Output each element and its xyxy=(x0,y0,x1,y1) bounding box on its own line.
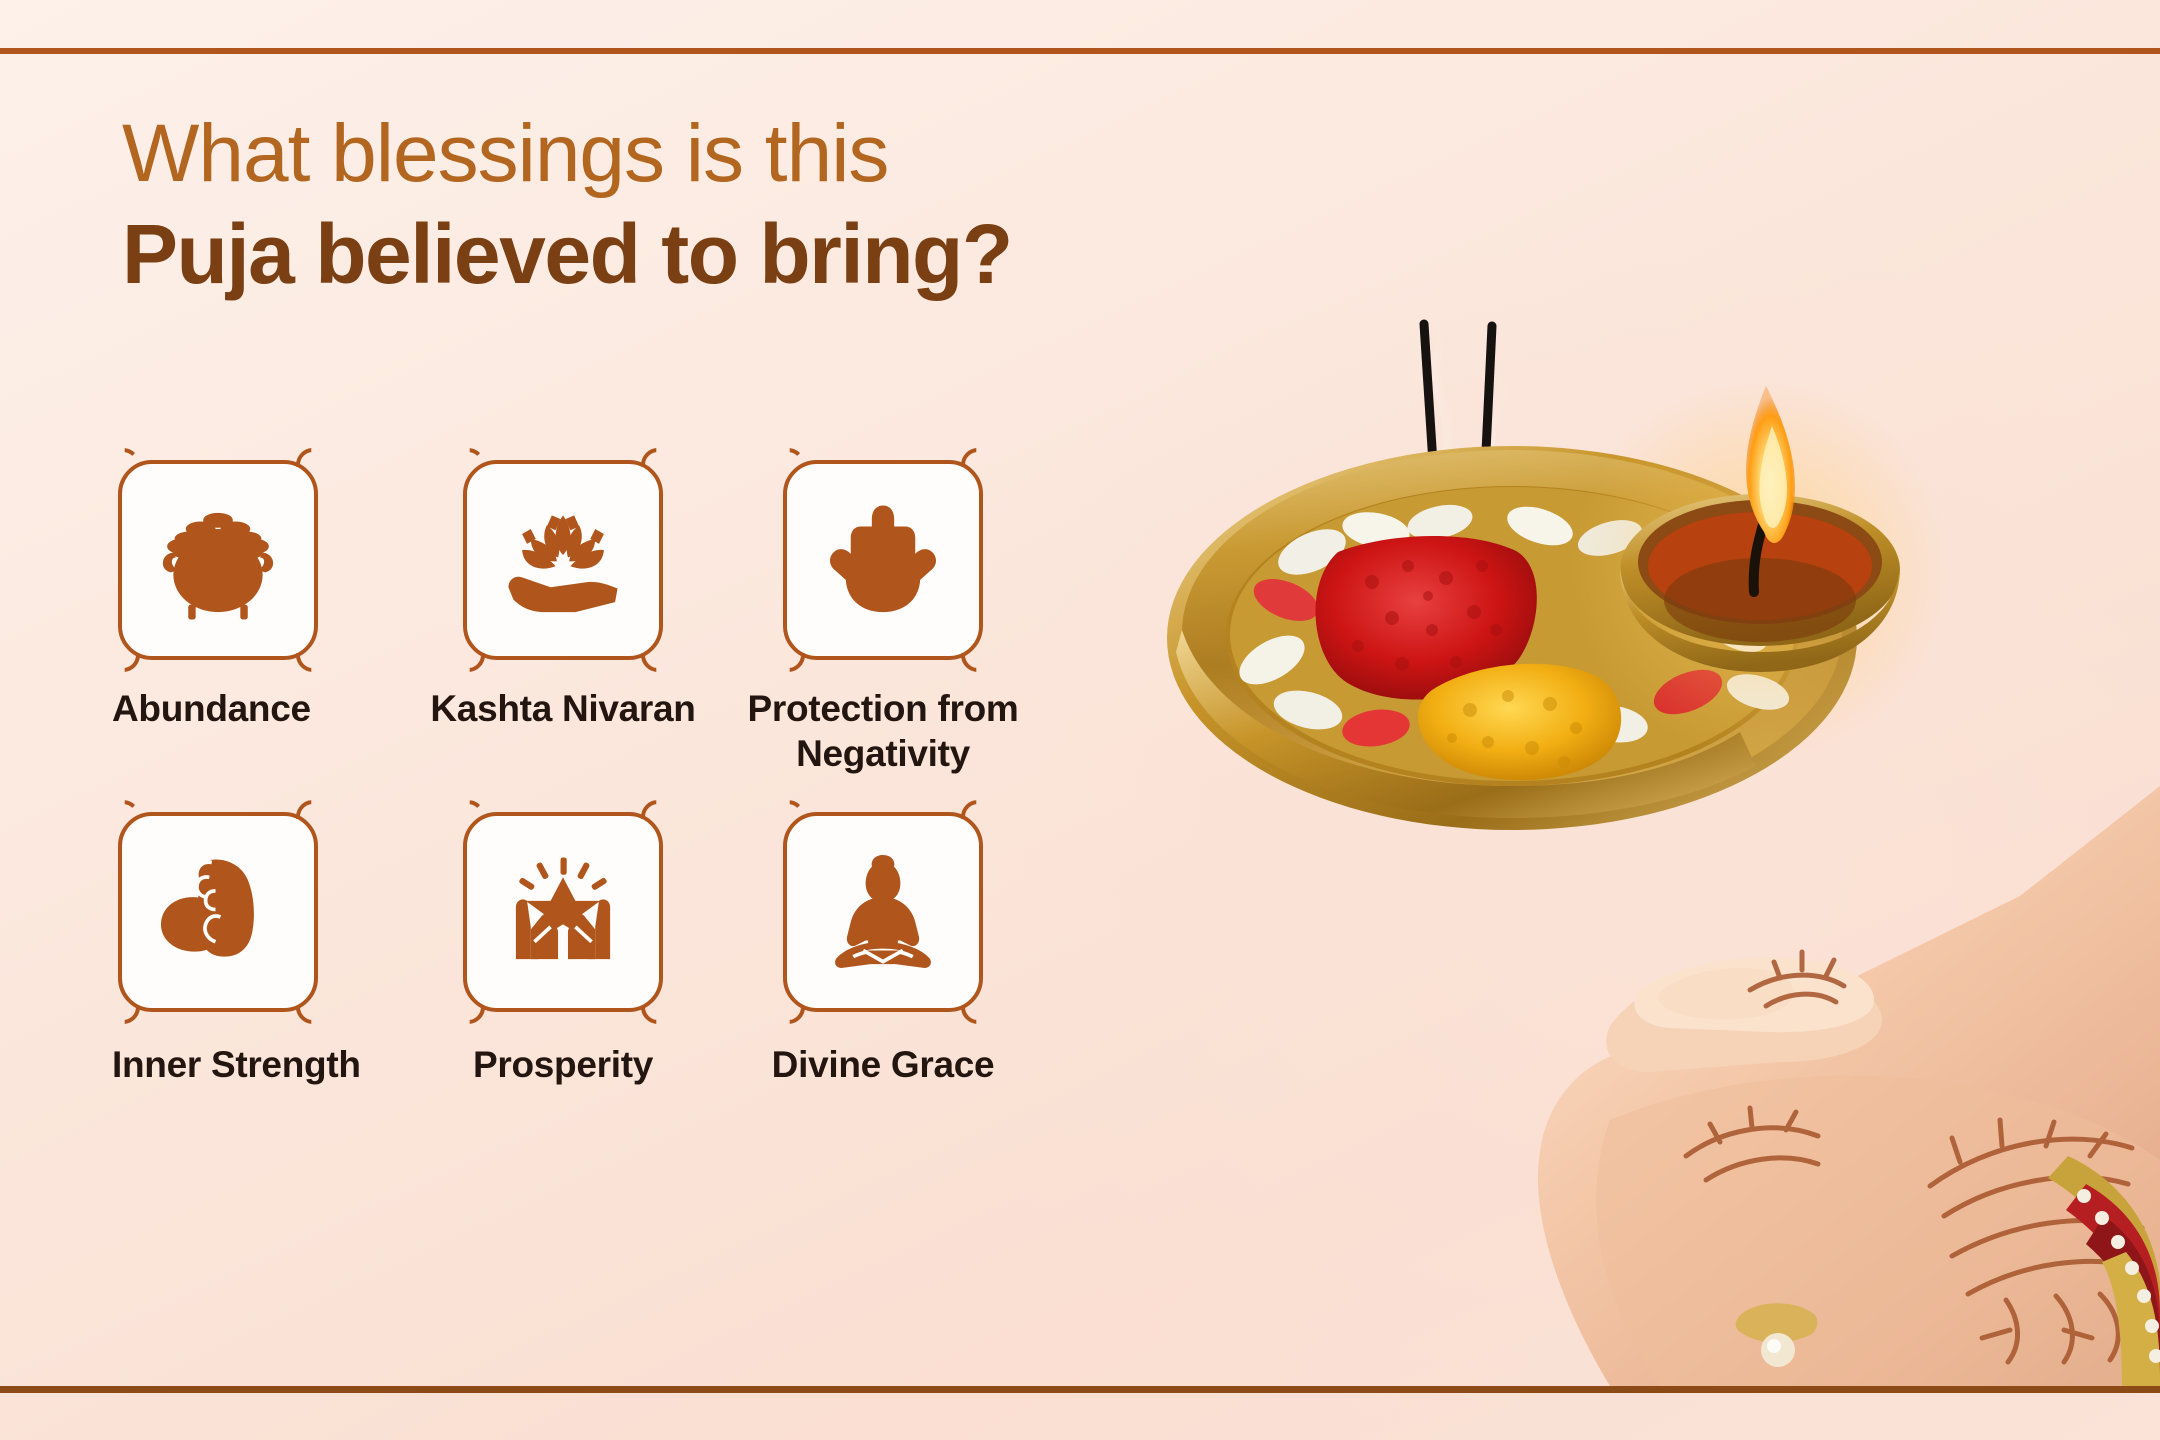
corner-cusp-icon xyxy=(641,638,675,672)
blessing-item-prosperity[interactable]: Prosperity xyxy=(428,812,698,1087)
corner-cusp-icon xyxy=(106,448,140,482)
hand-holding-puja-thali-photo xyxy=(1140,300,2160,1386)
icon-frame xyxy=(783,460,983,660)
corner-cusp-icon xyxy=(961,800,995,834)
corner-cusp-icon xyxy=(106,800,140,834)
flexed-bicep-icon xyxy=(156,850,280,974)
corner-cusp-icon xyxy=(771,990,805,1024)
icon-frame xyxy=(463,812,663,1012)
corner-cusp-icon xyxy=(106,990,140,1024)
hands-with-star-icon xyxy=(501,850,625,974)
corner-cusp-icon xyxy=(451,990,485,1024)
corner-cusp-icon xyxy=(641,990,675,1024)
corner-cusp-icon xyxy=(451,800,485,834)
corner-cusp-icon xyxy=(641,448,675,482)
title-line-2: Puja believed to bring? xyxy=(122,210,1012,298)
top-divider-rule xyxy=(0,48,2160,54)
blessing-label: Prosperity xyxy=(473,1042,653,1087)
icon-frame xyxy=(463,460,663,660)
corner-cusp-icon xyxy=(296,448,330,482)
page-title: What blessings is this Puja believed to … xyxy=(122,112,1012,298)
corner-cusp-icon xyxy=(451,448,485,482)
corner-cusp-icon xyxy=(451,638,485,672)
corner-cusp-icon xyxy=(771,448,805,482)
corner-cusp-icon xyxy=(641,800,675,834)
blessing-item-protection[interactable]: Protection from Negativity xyxy=(738,460,1028,776)
corner-cusp-icon xyxy=(771,800,805,834)
corner-cusp-icon xyxy=(961,638,995,672)
blessing-item-inner-strength[interactable]: Inner Strength xyxy=(118,812,388,1087)
blessing-label: Protection from Negativity xyxy=(738,686,1028,776)
corner-cusp-icon xyxy=(961,990,995,1024)
hamsa-hand-icon xyxy=(821,498,945,622)
blessing-item-abundance[interactable]: Abundance xyxy=(118,460,388,776)
blessing-label: Divine Grace xyxy=(772,1042,995,1087)
meditating-person-icon xyxy=(821,850,945,974)
blessing-item-divine-grace[interactable]: Divine Grace xyxy=(738,812,1028,1087)
corner-cusp-icon xyxy=(296,990,330,1024)
icon-frame xyxy=(118,812,318,1012)
pot-of-coins-icon xyxy=(156,498,280,622)
blessing-label: Inner Strength xyxy=(112,1042,361,1087)
icon-frame xyxy=(783,812,983,1012)
hand-with-lotus-icon xyxy=(501,498,625,622)
blessings-grid: Abundance xyxy=(118,460,1178,1087)
corner-cusp-icon xyxy=(771,638,805,672)
blessing-label: Abundance xyxy=(112,686,311,731)
corner-cusp-icon xyxy=(296,800,330,834)
icon-frame xyxy=(118,460,318,660)
corner-cusp-icon xyxy=(296,638,330,672)
bottom-divider-rule xyxy=(0,1386,2160,1393)
title-line-1: What blessings is this xyxy=(122,112,1012,196)
corner-cusp-icon xyxy=(961,448,995,482)
blessing-item-kashta-nivaran[interactable]: Kashta Nivaran xyxy=(428,460,698,776)
corner-cusp-icon xyxy=(106,638,140,672)
blessing-label: Kashta Nivaran xyxy=(430,686,695,731)
poster-canvas: What blessings is this Puja believed to … xyxy=(0,0,2160,1440)
